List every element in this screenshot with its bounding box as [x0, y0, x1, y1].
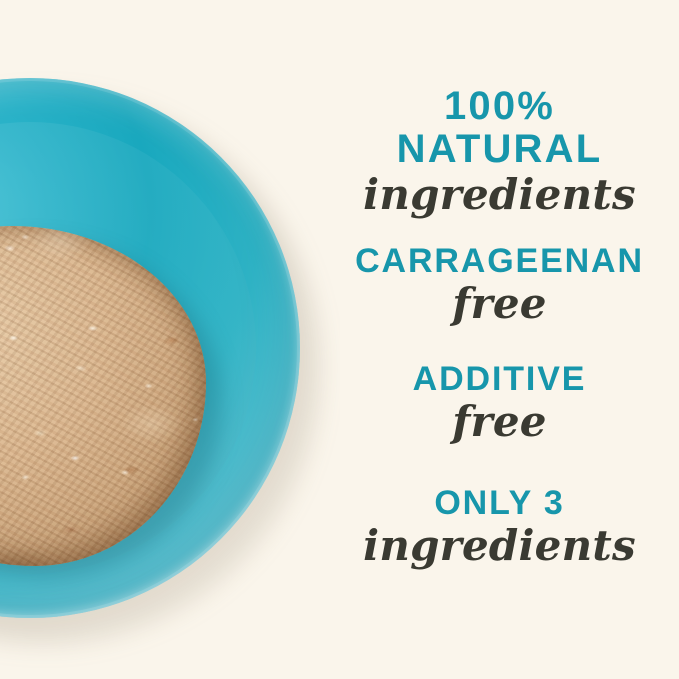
- shredded-fish-food: [0, 226, 206, 566]
- claims-list: 100% NATURAL ingredients CARRAGEENAN fre…: [320, 0, 679, 679]
- claim-1-script: ingredients: [320, 174, 679, 216]
- claim-1-cap-line-1: 100%: [320, 86, 679, 127]
- claim-3-cap-line-1: ADDITIVE: [320, 362, 679, 397]
- product-claims-image: 100% NATURAL ingredients CARRAGEENAN fre…: [0, 0, 679, 679]
- food-texture-shading: [0, 226, 206, 566]
- claim-2-script: free: [320, 283, 679, 325]
- claim-additive-free: ADDITIVE free: [320, 362, 679, 443]
- claim-4-script: ingredients: [320, 525, 679, 567]
- claim-1-cap-line-2: NATURAL: [320, 129, 679, 170]
- claim-only-3-ingredients: ONLY 3 ingredients: [320, 486, 679, 567]
- claim-natural-ingredients: 100% NATURAL ingredients: [320, 86, 679, 216]
- claim-4-cap-line-1: ONLY 3: [320, 486, 679, 521]
- claim-2-cap-line-1: CARRAGEENAN: [320, 244, 679, 279]
- claim-3-script: free: [320, 401, 679, 443]
- claim-carrageenan-free: CARRAGEENAN free: [320, 244, 679, 325]
- product-photo: [0, 0, 340, 679]
